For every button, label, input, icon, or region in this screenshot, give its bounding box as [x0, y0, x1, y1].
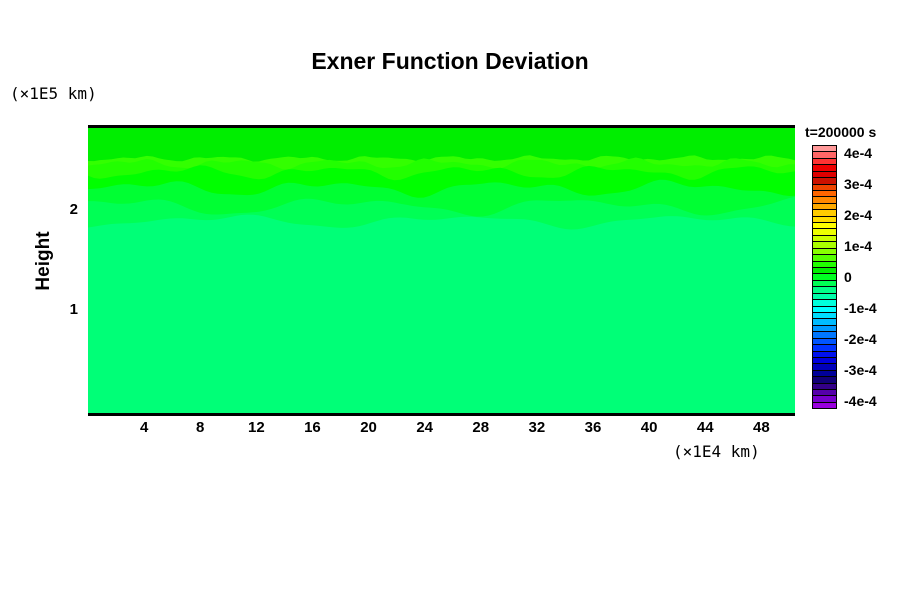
colorbar-tick-label: 2e-4 [844, 207, 872, 223]
colorbar-tick-label: -3e-4 [844, 362, 877, 378]
chart-canvas: Exner Function Deviation (×1E5 km) Heigh… [0, 0, 900, 600]
x-tick-label: 36 [573, 419, 613, 436]
colorbar-tick-label: 1e-4 [844, 238, 872, 254]
x-tick-label: 40 [629, 419, 669, 436]
x-tick-label: 8 [180, 419, 220, 436]
y-axis-title: Height [33, 213, 55, 309]
page-title: Exner Function Deviation [0, 48, 900, 75]
contour-band [88, 215, 795, 413]
colorbar-tick-label: -4e-4 [844, 393, 877, 409]
x-tick-label: 32 [517, 419, 557, 436]
x-tick-label: 28 [461, 419, 501, 436]
colorbar-tick-label: -1e-4 [844, 300, 877, 316]
x-tick-label: 20 [349, 419, 389, 436]
y-tick-label: 1 [58, 301, 78, 318]
x-tick-label: 44 [685, 419, 725, 436]
y-axis-units-label: (×1E5 km) [10, 84, 97, 103]
colorbar-tick-label: 4e-4 [844, 145, 872, 161]
plot-area [88, 125, 795, 416]
y-tick-label: 2 [58, 201, 78, 218]
colorbar-tick-label: -2e-4 [844, 331, 877, 347]
x-tick-label: 12 [236, 419, 276, 436]
x-tick-label: 4 [124, 419, 164, 436]
x-tick-label: 48 [741, 419, 781, 436]
time-annotation: t=200000 s [805, 124, 876, 140]
colorbar-band [813, 403, 836, 408]
colorbar: 4e-43e-42e-41e-40-1e-4-2e-4-3e-4-4e-4 [812, 145, 898, 413]
x-axis-units-label: (×1E4 km) [673, 442, 760, 461]
contour-field [88, 128, 795, 413]
x-tick-label: 24 [405, 419, 445, 436]
colorbar-tick-label: 3e-4 [844, 176, 872, 192]
x-tick-label: 16 [292, 419, 332, 436]
colorbar-tick-label: 0 [844, 269, 852, 285]
colorbar-strip [812, 145, 837, 409]
